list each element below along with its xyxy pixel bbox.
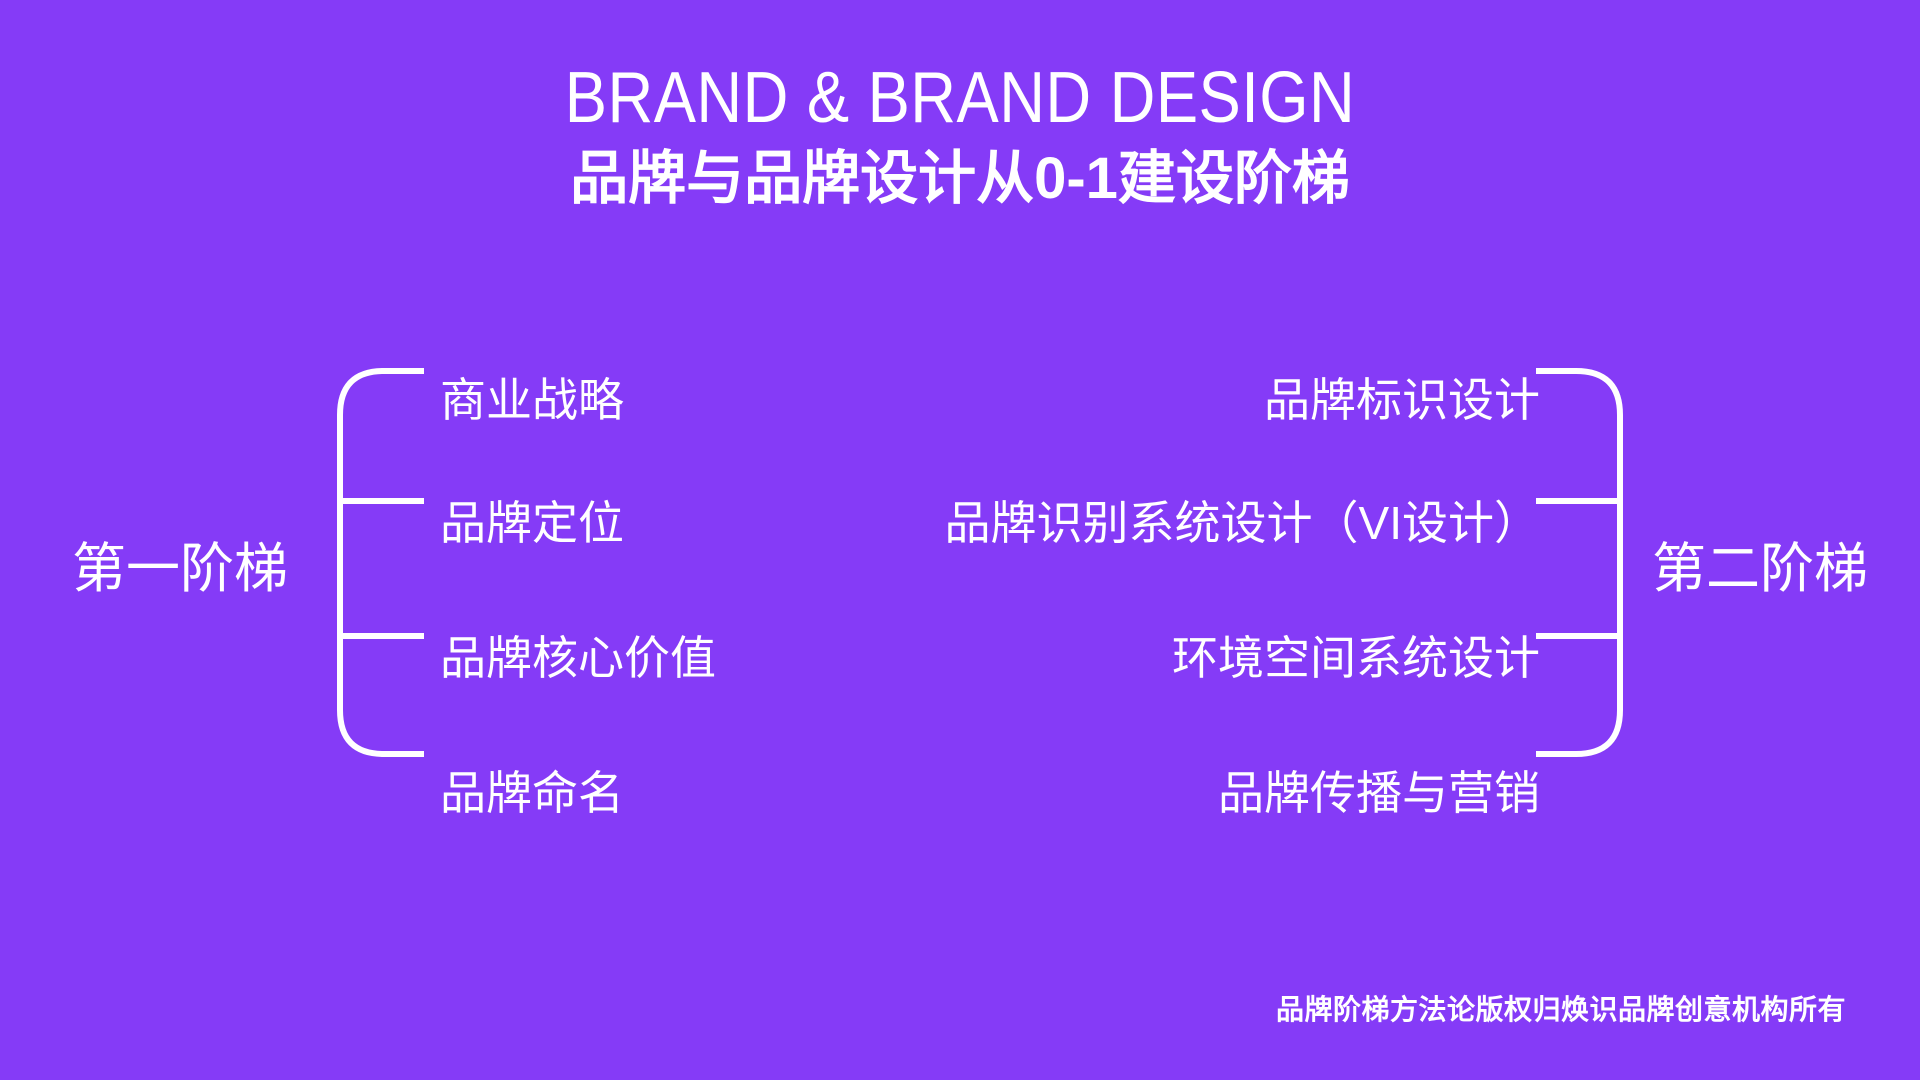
right-stage-item-1: 品牌标识设计 xyxy=(1264,377,1540,423)
right-stage-item-4: 品牌传播与营销 xyxy=(1218,770,1540,816)
left-stage-item-4: 品牌命名 xyxy=(440,770,624,816)
right-bracket-outline xyxy=(1536,371,1620,754)
ladder-diagram: 第一阶梯 第二阶梯 商业战略 品牌定位 品牌核心价值 品牌命名 品牌标识设计 品… xyxy=(0,0,1920,1080)
right-stage-item-list: 品牌标识设计 品牌识别系统设计（VI设计） 环境空间系统设计 品牌传播与营销 xyxy=(820,355,1540,775)
stage-label-second: 第二阶梯 xyxy=(1652,542,1868,596)
left-stage-item-3: 品牌核心价值 xyxy=(440,635,716,681)
stage-label-first: 第一阶梯 xyxy=(72,542,288,596)
copyright-notice: 品牌阶梯方法论版权归焕识品牌创意机构所有 xyxy=(1276,988,1846,1028)
slide-canvas: BRAND & BRAND DESIGN 品牌与品牌设计从0-1建设阶梯 第一阶… xyxy=(0,0,1920,1080)
left-bracket-outline xyxy=(340,371,424,754)
right-stage-item-2: 品牌识别系统设计（VI设计） xyxy=(945,500,1540,546)
left-stage-item-2: 品牌定位 xyxy=(440,500,624,546)
left-stage-item-1: 商业战略 xyxy=(440,377,624,423)
right-stage-item-3: 环境空间系统设计 xyxy=(1172,635,1540,681)
